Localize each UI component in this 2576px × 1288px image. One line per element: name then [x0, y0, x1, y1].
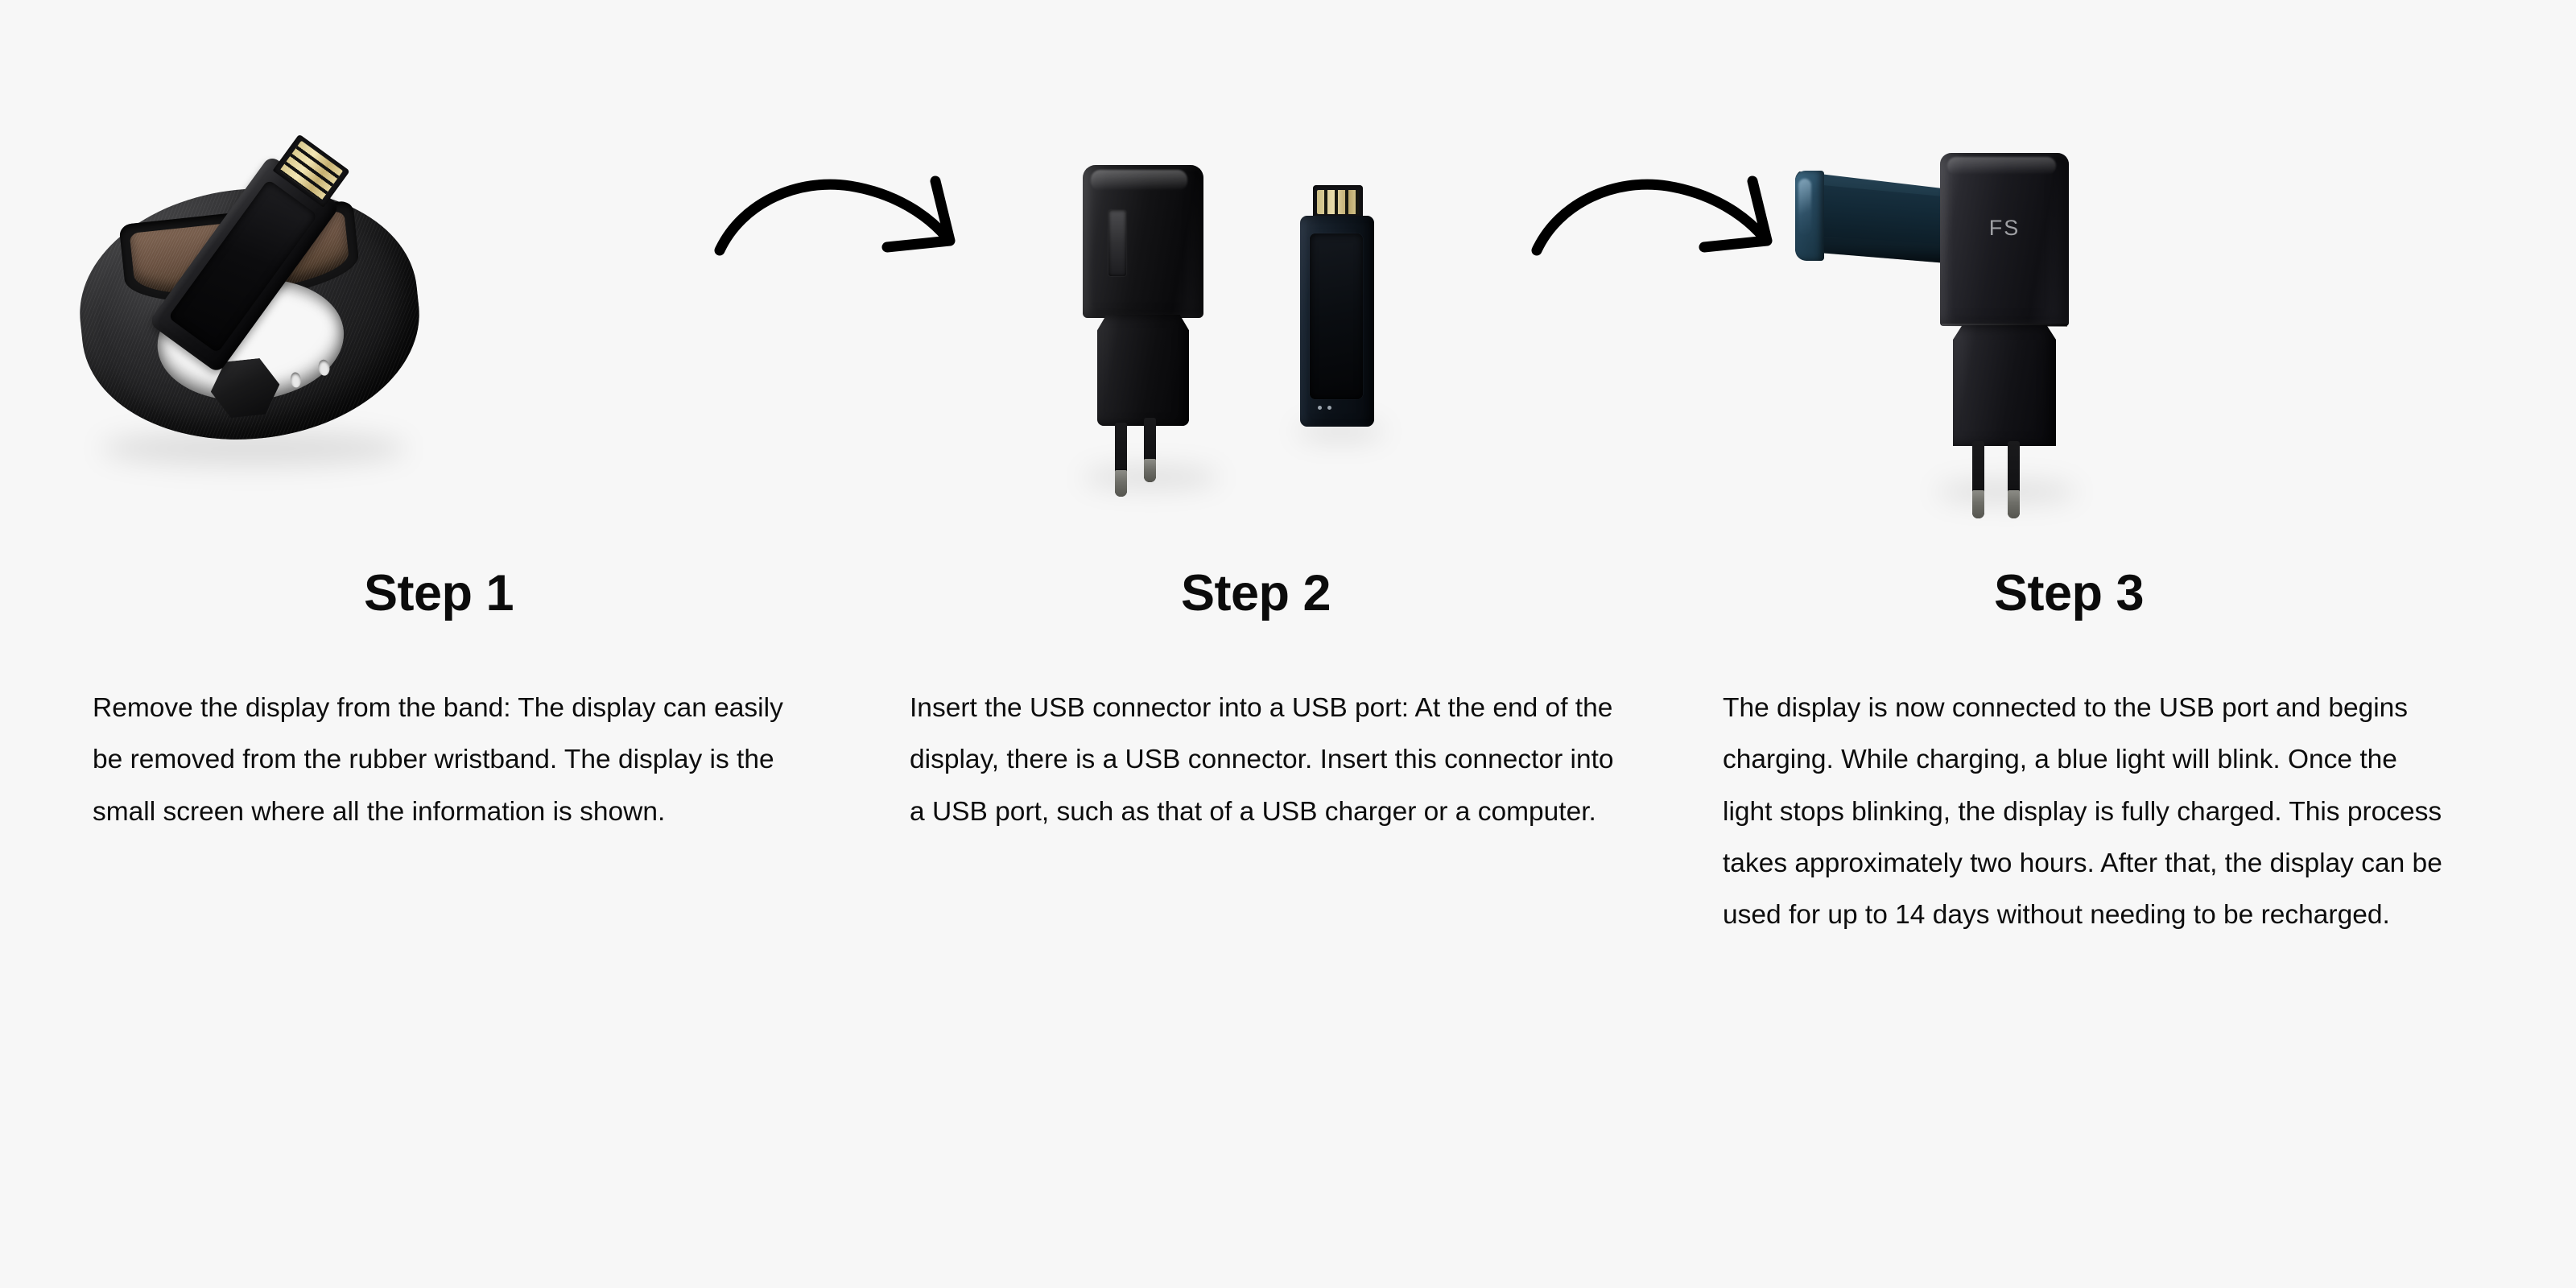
- charger-gloss-highlight: [1947, 157, 2056, 175]
- eu-plug-prong: [2008, 441, 2020, 518]
- eu-plug-prong: [1972, 441, 1984, 518]
- charger-lower-body: [1097, 315, 1189, 426]
- step-column-3: FS Step 3 The display is now connected t…: [1654, 0, 2483, 1288]
- step-2-body: Insert the USB connector into a USB port…: [910, 683, 1618, 838]
- step-2-heading: Step 2: [841, 567, 1670, 620]
- upright-display-module: [1300, 185, 1374, 427]
- step-3-body: The display is now connected to the USB …: [1723, 683, 2451, 942]
- charger-body: [1083, 165, 1203, 318]
- eu-plug-prong: [1144, 418, 1156, 482]
- edge-highlight: [1798, 179, 1811, 235]
- connected-display-module: [1795, 169, 1956, 274]
- status-led: [1327, 406, 1331, 410]
- charger-body: FS: [1940, 153, 2069, 326]
- usb-gold-contacts: [1317, 190, 1359, 214]
- step-3-figure: FS: [1654, 121, 2483, 539]
- step-1-body: Remove the display from the band: The di…: [93, 683, 801, 838]
- usb-wall-charger: [1083, 165, 1203, 479]
- display-module-edge: [1795, 171, 1824, 261]
- instruction-board: Step 1 Remove the display from the band:…: [0, 0, 2576, 1288]
- status-led: [1318, 406, 1322, 410]
- step-3-heading: Step 3: [1654, 567, 2483, 620]
- usb-connector-icon: [1313, 185, 1363, 219]
- usb-wall-charger: FS: [1940, 153, 2069, 491]
- eu-plug-prong: [1115, 423, 1127, 497]
- usb-port-slot: [1108, 210, 1126, 276]
- display-module-body: [1300, 216, 1374, 427]
- charger-gloss-highlight: [1091, 170, 1187, 191]
- step-1-heading: Step 1: [24, 567, 853, 620]
- charger-brand-mark: FS: [1940, 216, 2069, 241]
- charger-lower-body: [1953, 325, 2056, 446]
- charger-with-module-photo: FS: [1654, 121, 2483, 539]
- display-screen: [1310, 233, 1363, 399]
